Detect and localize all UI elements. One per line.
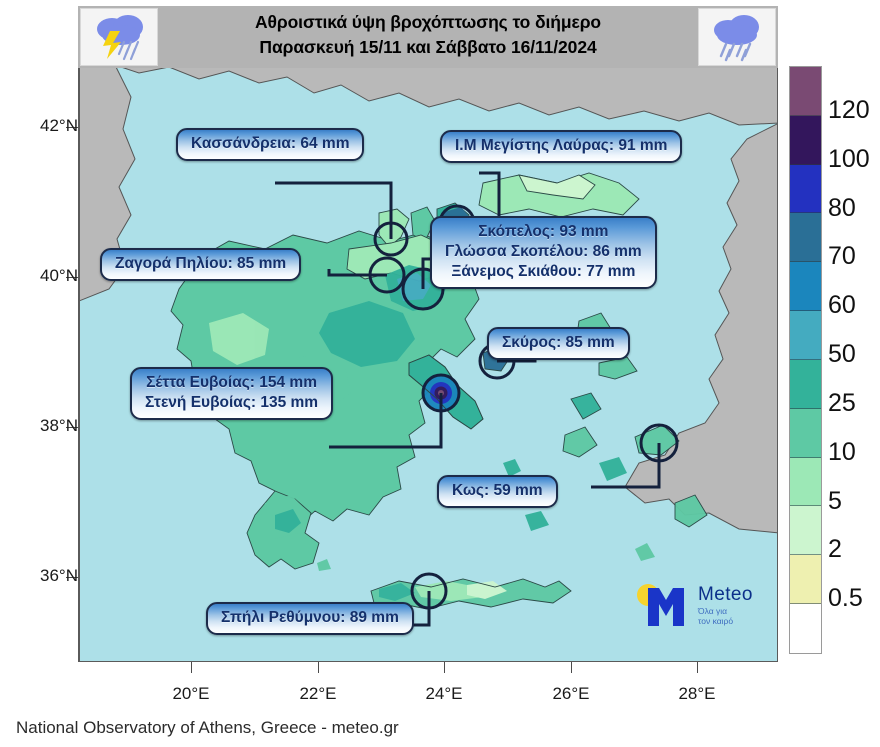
colorbar-tick-120: 120 (828, 98, 870, 123)
colorbar-band (790, 116, 821, 165)
callout-line: Στενή Ευβοίας: 135 mm (145, 393, 318, 413)
callout-line: Κως: 59 mm (452, 481, 543, 501)
callout-line: Σέττα Ευβοίας: 154 mm (145, 373, 318, 393)
colorbar-band (790, 360, 821, 409)
meteo-logo: Meteo Όλα για τον καιρό (632, 580, 782, 640)
x-axis-label-22E: 22°E (273, 684, 363, 704)
meteo-mark-icon (632, 580, 696, 632)
colorbar-tick-5: 5 (828, 489, 842, 514)
callout-line: Κασσάνδρεια: 64 mm (191, 134, 349, 154)
x-axis-label-26E: 26°E (526, 684, 616, 704)
callout-line: Σκύρος: 85 mm (502, 333, 615, 353)
map-header-banner: Αθροιστικά ύψη βροχόπτωσης το διήμερο Πα… (78, 6, 778, 68)
colorbar-tick-25: 25 (828, 391, 856, 416)
colorbar-tick-100: 100 (828, 147, 870, 172)
colorbar-band (790, 213, 821, 262)
colorbar-tick-60: 60 (828, 293, 856, 318)
page-title: Αθροιστικά ύψη βροχόπτωσης το διήμερο Πα… (160, 10, 696, 60)
callout-megistis-lavras[interactable]: Ι.Μ Μεγίστης Λαύρας: 91 mm (440, 130, 682, 163)
y-axis-label-42N: 42°N (0, 116, 78, 136)
colorbar-tick-0-5: 0.5 (828, 586, 863, 611)
y-axis-label-38N: 38°N (0, 416, 78, 436)
title-line-1: Αθροιστικά ύψη βροχόπτωσης το διήμερο (160, 10, 696, 35)
x-tick-mark (318, 662, 319, 673)
precipitation-colorbar (789, 66, 822, 654)
meteo-logo-tagline: Όλα για τον καιρό (698, 606, 733, 626)
colorbar-tick-10: 10 (828, 440, 856, 465)
callout-kassandreia[interactable]: Κασσάνδρεια: 64 mm (176, 128, 364, 161)
colorbar-band (790, 165, 821, 214)
rain-cloud-icon (698, 8, 776, 66)
colorbar-band (790, 458, 821, 507)
x-axis-label-24E: 24°E (399, 684, 489, 704)
colorbar-band (790, 555, 821, 604)
callout-line: Ξάνεμος Σκιάθου: 77 mm (445, 262, 642, 282)
meteo-logo-text: Meteo (698, 584, 753, 606)
callout-spili-rethymnou[interactable]: Σπήλι Ρεθύμνου: 89 mm (206, 602, 414, 635)
callout-evia[interactable]: Σέττα Ευβοίας: 154 mm Στενή Ευβοίας: 135… (130, 367, 333, 420)
colorbar-band (790, 311, 821, 360)
callout-kos[interactable]: Κως: 59 mm (437, 475, 558, 508)
x-axis-label-20E: 20°E (146, 684, 236, 704)
x-tick-mark (697, 662, 698, 673)
y-axis-label-40N: 40°N (0, 266, 78, 286)
callout-line: Γλώσσα Σκοπέλου: 86 mm (445, 242, 642, 262)
tagline-line-2: τον καιρό (698, 616, 733, 626)
callout-skyros[interactable]: Σκύρος: 85 mm (487, 327, 630, 360)
colorbar-tick-50: 50 (828, 342, 856, 367)
weather-map-page: Αθροιστικά ύψη βροχόπτωσης το διήμερο Πα… (0, 0, 880, 747)
y-axis-label-36N: 36°N (0, 566, 78, 586)
thunderstorm-rain-icon (80, 8, 158, 66)
colorbar-band (790, 506, 821, 555)
colorbar-band (790, 67, 821, 116)
title-line-2: Παρασκευή 15/11 και Σάββατο 16/11/2024 (160, 35, 696, 60)
tagline-line-1: Όλα για (698, 606, 733, 616)
callout-line: Σπήλι Ρεθύμνου: 89 mm (221, 608, 399, 628)
x-tick-mark (571, 662, 572, 673)
colorbar-tick-70: 70 (828, 244, 856, 269)
colorbar-tick-2: 2 (828, 537, 842, 562)
attribution-text: National Observatory of Athens, Greece -… (16, 718, 399, 738)
callout-skopelos-group[interactable]: Σκόπελος: 93 mm Γλώσσα Σκοπέλου: 86 mm Ξ… (430, 216, 657, 289)
callout-line: Ι.Μ Μεγίστης Λαύρας: 91 mm (455, 136, 667, 156)
colorbar-band (790, 604, 821, 653)
callout-zagora-piliou[interactable]: Ζαγορά Πηλίου: 85 mm (100, 248, 301, 281)
x-tick-mark (444, 662, 445, 673)
x-tick-mark (191, 662, 192, 673)
colorbar-band (790, 262, 821, 311)
callout-line: Ζαγορά Πηλίου: 85 mm (115, 254, 286, 274)
x-axis-label-28E: 28°E (652, 684, 742, 704)
colorbar-band (790, 409, 821, 458)
colorbar-tick-80: 80 (828, 196, 856, 221)
callout-line: Σκόπελος: 93 mm (445, 222, 642, 242)
